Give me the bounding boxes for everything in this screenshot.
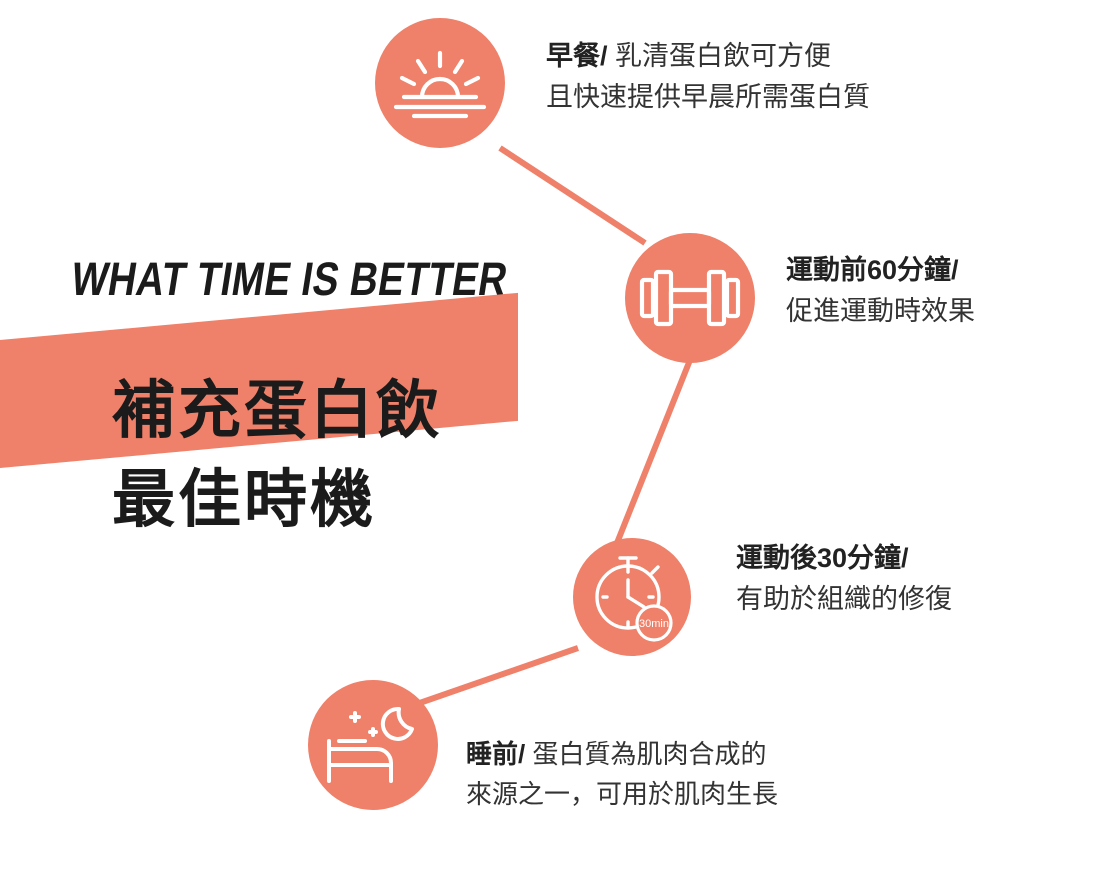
- node-breakfast: [375, 18, 505, 148]
- node-bedtime: [308, 680, 438, 810]
- infographic-canvas: WHAT TIME IS BETTER 補充蛋白飲 最佳時機: [0, 0, 1100, 885]
- caption-bedtime-line-1: 蛋白質為肌肉合成的: [532, 739, 766, 769]
- headline-chinese: 補充蛋白飲 最佳時機: [112, 367, 442, 546]
- caption-bedtime: 睡前/ 蛋白質為肌肉合成的 來源之一，可用於肌肉生長: [466, 735, 966, 814]
- caption-post-workout: 運動後30分鐘/ 有助於組織的修復: [736, 538, 1056, 620]
- stopwatch-badge-label: 30min: [639, 618, 669, 630]
- caption-pre-workout: 運動前60分鐘/ 促進運動時效果: [786, 250, 1086, 332]
- headline-chinese-line-2: 最佳時機: [112, 456, 442, 545]
- caption-bedtime-lead: 睡前/: [466, 739, 525, 769]
- caption-pre-workout-line-1: 促進運動時效果: [786, 291, 1086, 332]
- caption-breakfast-lead: 早餐/: [546, 41, 608, 71]
- caption-post-workout-lead: 運動後30分鐘/: [736, 538, 1056, 579]
- bed-moon-icon: [321, 699, 425, 791]
- caption-post-workout-line-1: 有助於組織的修復: [736, 579, 1056, 620]
- caption-breakfast-line-2: 且快速提供早晨所需蛋白質: [546, 77, 1016, 118]
- caption-breakfast: 早餐/ 乳清蛋白飲可方便 且快速提供早晨所需蛋白質: [546, 36, 1016, 118]
- dumbbell-icon: [638, 266, 742, 330]
- caption-bedtime-line-2: 來源之一，可用於肌肉生長: [466, 775, 966, 815]
- caption-breakfast-line-1: 乳清蛋白飲可方便: [615, 41, 831, 71]
- headline-chinese-line-1: 補充蛋白飲: [112, 367, 442, 456]
- stopwatch-icon: 30min: [582, 547, 682, 647]
- caption-pre-workout-lead: 運動前60分鐘/: [786, 250, 1086, 291]
- headline-block: WHAT TIME IS BETTER 補充蛋白飲 最佳時機: [0, 255, 560, 302]
- sunrise-icon: [392, 45, 488, 121]
- node-post-workout: 30min: [573, 538, 691, 656]
- headline-english: WHAT TIME IS BETTER: [68, 255, 476, 302]
- node-pre-workout: [625, 233, 755, 363]
